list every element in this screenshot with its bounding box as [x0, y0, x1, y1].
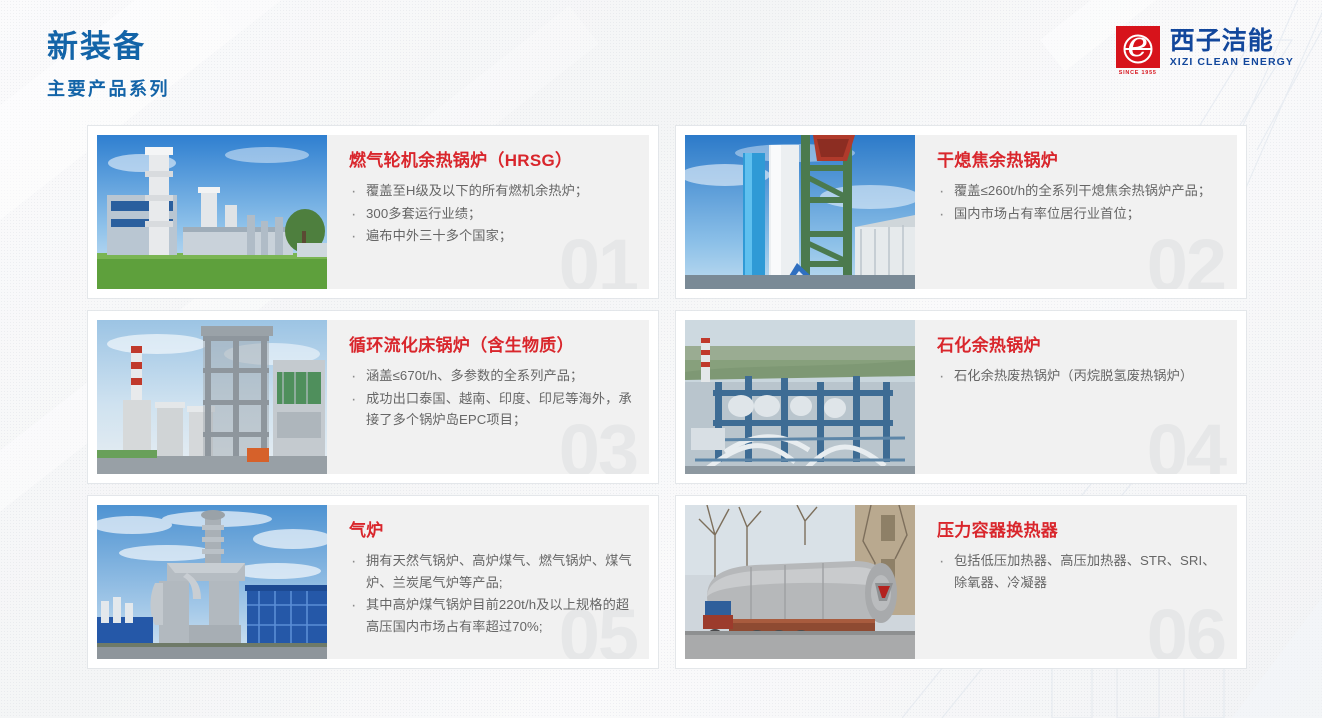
product-photo-pressure-vessel	[685, 505, 915, 659]
logo-name-cn: 西子洁能	[1170, 28, 1294, 54]
product-feature-list: 覆盖≤260t/h的全系列干熄焦余热锅炉产品； 国内市场占有率位居行业首位；	[937, 180, 1221, 224]
product-feature-item: 遍布中外三十多个国家；	[349, 225, 633, 246]
product-card-inner: 01	[97, 135, 649, 289]
product-feature-list: 石化余热废热锅炉（丙烷脱氢废热锅炉）	[937, 365, 1221, 386]
product-feature-list: 包括低压加热器、高压加热器、STR、SRI、除氧器、冷凝器	[937, 550, 1221, 593]
product-feature-list: 拥有天然气锅炉、高炉煤气、燃气锅炉、煤气炉、兰炭尾气炉等产品; 其中高炉煤气锅炉…	[349, 550, 633, 637]
product-card-title: 压力容器换热器	[937, 521, 1221, 541]
product-feature-item: 包括低压加热器、高压加热器、STR、SRI、除氧器、冷凝器	[937, 550, 1221, 593]
product-card-grid: 01	[88, 126, 1246, 668]
product-card[interactable]: 06	[676, 496, 1246, 668]
product-card-inner: 02	[685, 135, 1237, 289]
product-card[interactable]: 03	[88, 311, 658, 483]
product-photo-petrochemical	[685, 320, 915, 474]
product-feature-item: 石化余热废热锅炉（丙烷脱氢废热锅炉）	[937, 365, 1221, 386]
slide-header: 新装备 主要产品系列 e SINCE 1955 西子洁能 XIZI CLEAN …	[0, 0, 1322, 120]
product-photo-hrsg	[97, 135, 327, 289]
product-feature-item: 其中高炉煤气锅炉目前220t/h及以上规格的超高压国内市场占有率超过70%;	[349, 594, 633, 637]
product-card-title: 气炉	[349, 521, 633, 541]
product-card-body: 气炉 拥有天然气锅炉、高炉煤气、燃气锅炉、煤气炉、兰炭尾气炉等产品; 其中高炉煤…	[327, 505, 649, 659]
product-card-body: 循环流化床锅炉（含生物质） 涵盖≤670t/h、多参数的全系列产品； 成功出口泰…	[327, 320, 649, 474]
slide-root: 新装备 主要产品系列 e SINCE 1955 西子洁能 XIZI CLEAN …	[0, 0, 1322, 718]
product-feature-item: 覆盖≤260t/h的全系列干熄焦余热锅炉产品；	[937, 180, 1221, 201]
product-card-title: 循环流化床锅炉（含生物质）	[349, 336, 633, 356]
product-feature-list: 涵盖≤670t/h、多参数的全系列产品； 成功出口泰国、越南、印度、印尼等海外，…	[349, 365, 633, 430]
product-feature-list: 覆盖至H级及以下的所有燃机余热炉； 300多套运行业绩； 遍布中外三十多个国家；	[349, 180, 633, 246]
product-feature-item: 覆盖至H级及以下的所有燃机余热炉；	[349, 180, 633, 201]
product-card[interactable]: 01	[88, 126, 658, 298]
product-photo-cdq	[685, 135, 915, 289]
logo-e-icon: e	[1116, 26, 1160, 68]
product-feature-item: 涵盖≤670t/h、多参数的全系列产品；	[349, 365, 633, 386]
brand-logo: e SINCE 1955 西子洁能 XIZI CLEAN ENERGY	[1115, 26, 1294, 82]
product-feature-item: 300多套运行业绩；	[349, 203, 633, 224]
product-card[interactable]: 05	[88, 496, 658, 668]
logo-e-ring-icon	[1116, 26, 1160, 68]
product-photo-cfb	[97, 320, 327, 474]
product-card-body: 石化余热锅炉 石化余热废热锅炉（丙烷脱氢废热锅炉）	[915, 320, 1237, 474]
product-card-body: 干熄焦余热锅炉 覆盖≤260t/h的全系列干熄焦余热锅炉产品； 国内市场占有率位…	[915, 135, 1237, 289]
product-card-title: 干熄焦余热锅炉	[937, 151, 1221, 171]
logo-wordmark: 西子洁能 XIZI CLEAN ENERGY	[1170, 26, 1294, 68]
product-card-title: 石化余热锅炉	[937, 336, 1221, 356]
product-card-inner: 04	[685, 320, 1237, 474]
product-card[interactable]: 02	[676, 126, 1246, 298]
product-feature-item: 国内市场占有率位居行业首位；	[937, 203, 1221, 224]
product-card-body: 压力容器换热器 包括低压加热器、高压加热器、STR、SRI、除氧器、冷凝器	[915, 505, 1237, 659]
product-card-inner: 06	[685, 505, 1237, 659]
product-card-title: 燃气轮机余热锅炉（HRSG）	[349, 151, 633, 171]
product-feature-item: 拥有天然气锅炉、高炉煤气、燃气锅炉、煤气炉、兰炭尾气炉等产品;	[349, 550, 633, 593]
page-subtitle: 主要产品系列	[47, 75, 170, 101]
logo-mark: e SINCE 1955	[1115, 26, 1161, 76]
product-card-inner: 03	[97, 320, 649, 474]
title-block: 新装备 主要产品系列	[47, 30, 170, 101]
product-card-inner: 05	[97, 505, 649, 659]
product-feature-item: 成功出口泰国、越南、印度、印尼等海外，承接了多个锅炉岛EPC项目；	[349, 388, 633, 431]
page-title: 新装备	[47, 30, 170, 65]
logo-since-text: SINCE 1955	[1119, 70, 1157, 76]
product-card-body: 燃气轮机余热锅炉（HRSG） 覆盖至H级及以下的所有燃机余热炉； 300多套运行…	[327, 135, 649, 289]
product-photo-gas-boiler	[97, 505, 327, 659]
logo-name-en: XIZI CLEAN ENERGY	[1170, 56, 1294, 68]
product-card[interactable]: 04	[676, 311, 1246, 483]
